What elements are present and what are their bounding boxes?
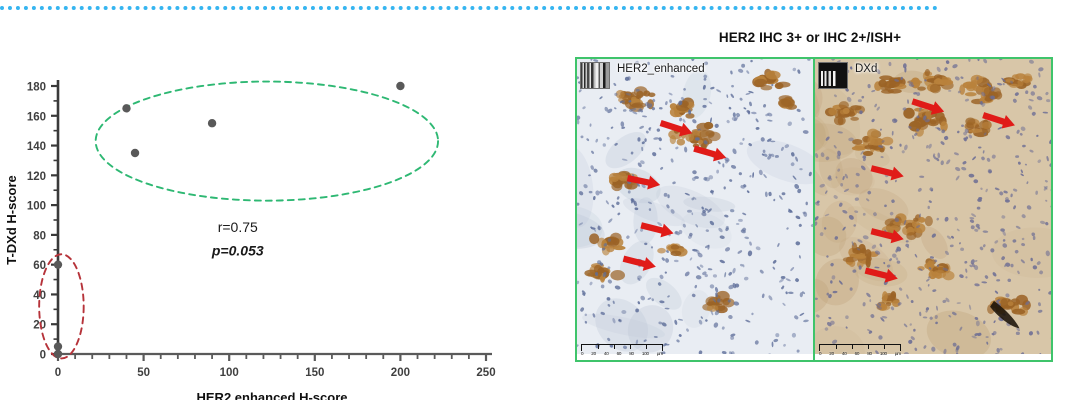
scalebar-labels: 0 20 40 60 80 100 µm (581, 351, 663, 357)
annotation-pvalue: p=0.053 (211, 243, 264, 259)
scalebar-her2-enhanced: 0 20 40 60 80 100 µm (581, 344, 663, 357)
y-axis-tick-label: 140 (27, 141, 46, 153)
scalebar-tick-40: 40 (842, 351, 847, 357)
ihc-panel-dxd[interactable]: DXd 0 20 40 60 80 100 µm (815, 59, 1051, 360)
x-axis-tick-label: 100 (220, 367, 239, 379)
x-axis-tick-label: 200 (391, 367, 410, 379)
y-axis-tick-label: 100 (27, 201, 46, 213)
y-axis-tick-label: 0 (40, 350, 46, 362)
data-point (208, 119, 216, 127)
y-axis-tick-label: 120 (27, 171, 46, 183)
cluster-ellipse-non-responder-cluster (39, 254, 84, 358)
scalebar-unit: µm (895, 351, 901, 357)
ihc-panel-label-dxd: DXd (855, 63, 877, 75)
scalebar-tick-0: 0 (819, 351, 821, 357)
x-axis-tick-label: 50 (137, 367, 150, 379)
scalebar-tick-100: 100 (880, 351, 887, 357)
scalebar-tick-100: 100 (642, 351, 649, 357)
dxd-micrograph (815, 59, 1051, 354)
ihc-figure-panel: HER2 IHC 3+ or IHC 2+/ISH+ HER2_enhanced… (540, 18, 1080, 400)
y-axis-tick-label: 80 (33, 230, 46, 242)
y-axis-tick-label: 20 (33, 320, 46, 332)
y-axis-tick-label: 160 (27, 111, 46, 123)
thumbnail-icon-dxd (818, 62, 848, 89)
scalebar-bar (819, 344, 901, 351)
scalebar-tick-20: 20 (591, 351, 596, 357)
data-point (54, 342, 62, 350)
scalebar-tick-80: 80 (867, 351, 872, 357)
ihc-panel-her2-enhanced[interactable]: HER2_enhanced 0 20 40 60 80 100 µm (577, 59, 815, 360)
scalebar-tick-60: 60 (855, 351, 860, 357)
data-point (122, 104, 130, 112)
y-axis-tick-label: 60 (33, 260, 46, 272)
ihc-figure-title: HER2 IHC 3+ or IHC 2+/ISH+ (540, 30, 1080, 45)
scalebar-labels: 0 20 40 60 80 100 µm (819, 351, 901, 357)
cluster-ellipse-responder-cluster (96, 82, 438, 201)
scalebar-unit: µm (657, 351, 663, 357)
scalebar-tick-20: 20 (829, 351, 834, 357)
scalebar-tick-80: 80 (629, 351, 634, 357)
scalebar-bar (581, 344, 663, 351)
y-axis-title: T-DXd H-score (4, 175, 19, 265)
x-axis-tick-label: 150 (305, 367, 324, 379)
x-axis-tick-label: 250 (476, 367, 495, 379)
data-point (54, 350, 62, 358)
top-divider-rule (0, 6, 938, 10)
scalebar-tick-60: 60 (617, 351, 622, 357)
her2-enhanced-micrograph (577, 59, 813, 354)
annotation-correlation: r=0.75 (218, 219, 258, 235)
ihc-panel-label-her2-enhanced: HER2_enhanced (617, 63, 705, 75)
data-point (54, 260, 62, 268)
x-axis-tick-label: 0 (55, 367, 61, 379)
scalebar-dxd: 0 20 40 60 80 100 µm (819, 344, 901, 357)
scatter-chart: 020406080100120140160180050100150200250H… (0, 18, 540, 400)
scalebar-tick-40: 40 (604, 351, 609, 357)
x-axis-title: HER2 enhanced H-score (197, 390, 348, 400)
ihc-image-pair: HER2_enhanced 0 20 40 60 80 100 µm (575, 57, 1053, 362)
y-axis-tick-label: 180 (27, 82, 46, 94)
thumbnail-icon-her2-enhanced (580, 62, 610, 89)
scalebar-tick-0: 0 (581, 351, 583, 357)
data-point (131, 149, 139, 157)
data-point (396, 82, 404, 90)
scatter-chart-panel: 020406080100120140160180050100150200250H… (0, 18, 540, 400)
